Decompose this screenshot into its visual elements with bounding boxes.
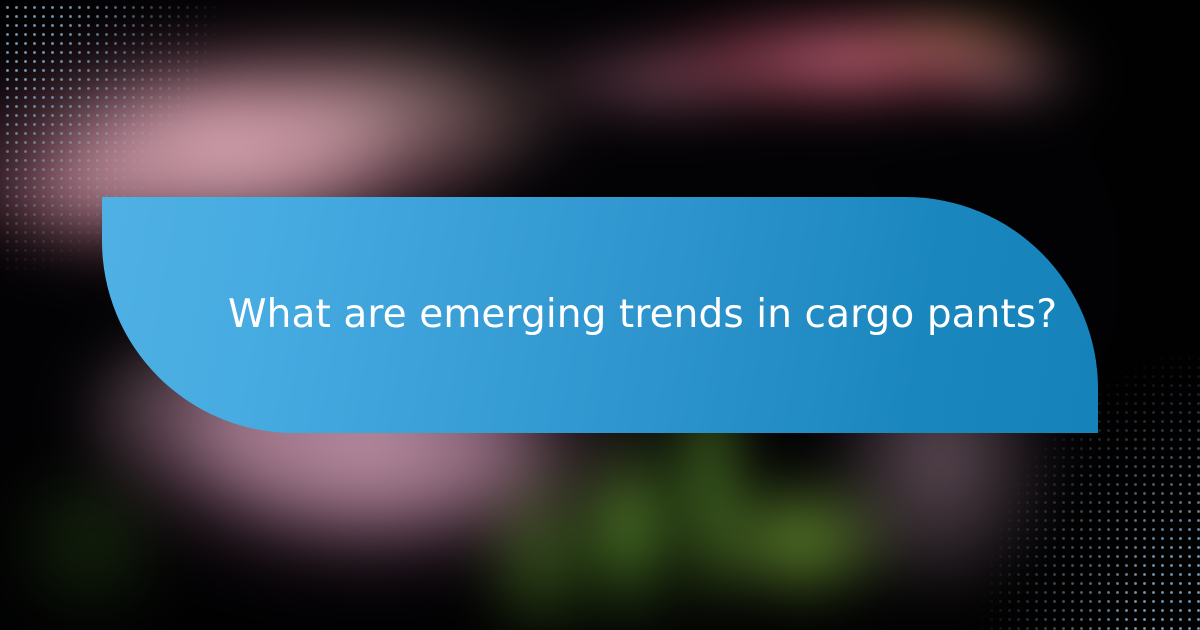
page-title: What are emerging trends in cargo pants? — [228, 292, 1057, 339]
headline-banner: What are emerging trends in cargo pants? — [102, 197, 1098, 433]
social-card: What are emerging trends in cargo pants? — [0, 0, 1200, 630]
